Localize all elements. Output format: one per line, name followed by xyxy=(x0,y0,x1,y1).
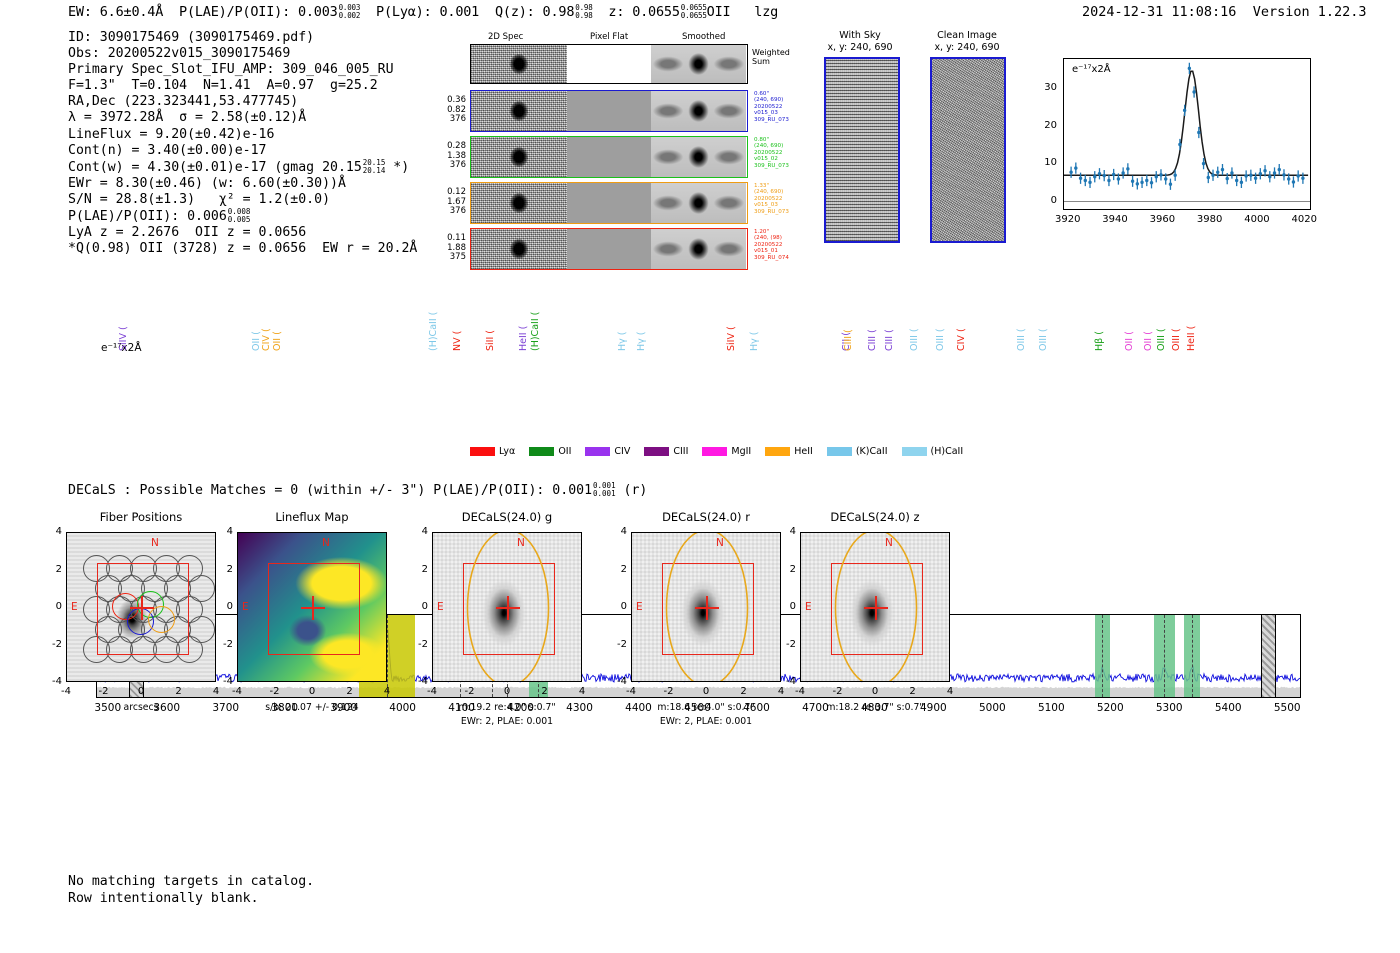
summary-header: EW: 6.6±0.4Å P(LAE)/P(OII): 0.0030.0030.… xyxy=(68,4,778,20)
linefit-ytick: 20 xyxy=(1033,120,1057,131)
cutout-clean-title: Clean Image xyxy=(902,30,1032,41)
legend-label: (H)CaII xyxy=(931,446,964,457)
panel-xtick: 2 xyxy=(533,686,557,697)
fiber-row[interactable] xyxy=(470,182,748,224)
linefit-xtick: 4020 xyxy=(1288,214,1320,225)
panel-xtick: 0 xyxy=(495,686,519,697)
imaging-panel-image[interactable]: NE xyxy=(800,532,950,682)
qz-label: Q(z): xyxy=(495,4,535,20)
fiber-stat-value: 376 xyxy=(432,207,466,217)
panel-ytick: 0 xyxy=(776,601,796,612)
info-ewr: EWr = 8.30(±0.46) (w: 6.60(±0.30))Å xyxy=(68,176,417,192)
panel-ytick: 2 xyxy=(607,564,627,575)
panel-ytick: 2 xyxy=(213,564,233,575)
fiber-pixelflat xyxy=(567,137,651,177)
version-label: Version 1.22.3 xyxy=(1253,4,1367,20)
emission-line-label: Hγ ( xyxy=(636,332,647,352)
z-species: OII xyxy=(707,4,731,20)
panel-ytick: 4 xyxy=(776,526,796,537)
panel-ytick: -4 xyxy=(607,676,627,687)
plae-value: 0.003 xyxy=(298,4,338,20)
legend-swatch xyxy=(902,447,927,456)
z-label: z: xyxy=(608,4,624,20)
info-seeing: F=1.3" T=0.104 N=1.41 A=0.97 g=25.2 xyxy=(68,78,417,94)
z-value: 0.0655 xyxy=(632,4,680,20)
panel-ytick: 2 xyxy=(408,564,428,575)
info-cont-n: Cont(n) = 3.40(±0.00)e-17 xyxy=(68,143,417,159)
emission-line-label: OIII ( xyxy=(935,328,946,351)
emission-line-label: SiIV ( xyxy=(726,326,737,351)
plae-range: 0.0030.002 xyxy=(339,4,361,20)
compass-east: E xyxy=(242,601,249,613)
emission-line-label: HeII ( xyxy=(1186,326,1197,351)
legend-item: OII xyxy=(529,446,571,457)
info-sn: S/N = 28.8(±1.3) χ² = 1.2(±0.0) xyxy=(68,192,417,208)
info-cont-w: Cont(w) = 4.30(±0.01)e-17 (gmag 20.1520.… xyxy=(68,159,417,176)
legend-label: CIV xyxy=(614,446,630,457)
weighted-sum-label: Weighted Sum xyxy=(752,48,790,66)
emission-line-label: Hγ ( xyxy=(749,332,760,352)
linefit-ytick: 30 xyxy=(1033,82,1057,93)
panel-ytick: -2 xyxy=(607,639,627,650)
emission-line-label: Hβ ( xyxy=(1094,331,1105,351)
legend-swatch xyxy=(827,447,852,456)
panel-ytick: -4 xyxy=(776,676,796,687)
plae-label: P(LAE)/P(OII): xyxy=(179,4,290,20)
linefit-ytick: 10 xyxy=(1033,157,1057,168)
qz-range: 0.980.98 xyxy=(575,4,592,20)
plya-value: 0.001 xyxy=(439,4,479,20)
z-range: 0.06550.0655 xyxy=(681,4,707,20)
imaging-panel-title: Lineflux Map xyxy=(217,510,407,524)
legend-item: (H)CaII xyxy=(902,446,964,457)
source-ellipse xyxy=(801,533,950,682)
compass-east: E xyxy=(805,601,812,613)
footer-line-1: No matching targets in catalog. xyxy=(68,874,314,891)
info-radec: RA,Dec (223.323441,53.477745) xyxy=(68,94,417,110)
weighted-sum-smoothed xyxy=(651,45,746,83)
imaging-panel-image[interactable]: NE xyxy=(237,532,387,682)
compass-east: E xyxy=(636,601,643,613)
imaging-panel-title: DECaLS(24.0) g xyxy=(412,510,602,524)
emission-line-label: OIII ( xyxy=(1156,328,1167,351)
compass-north: N xyxy=(322,537,330,549)
emission-line-label: NV ( xyxy=(452,331,463,351)
weighted-sum-pixelflat xyxy=(567,45,651,83)
emission-blob xyxy=(510,147,528,167)
panel-xtick: 2 xyxy=(167,686,191,697)
panel-xtick: -2 xyxy=(263,686,287,697)
fiber-2dspec xyxy=(471,91,567,131)
panel-ytick: -2 xyxy=(776,639,796,650)
fiber-pixelflat xyxy=(567,183,651,223)
target-crosshair xyxy=(312,596,313,620)
panel-ytick: 0 xyxy=(42,601,62,612)
panel-ytick: -2 xyxy=(408,639,428,650)
line-fit-plot: e⁻¹⁷x2Å 3920394039603980400040200102030 xyxy=(1028,50,1318,250)
aperture-box xyxy=(97,563,189,655)
full-spectrum-plot: e⁻¹⁷x2Å 35003600370038003900400041004200… xyxy=(0,270,1400,470)
footer-line-2: Row intentionally blank. xyxy=(68,891,314,908)
info-primary-spec: Primary Spec_Slot_IFU_AMP: 309_046_005_R… xyxy=(68,62,417,78)
fullspec-xtick: 5400 xyxy=(1208,702,1248,714)
panel-ytick: -2 xyxy=(213,639,233,650)
source-ellipse xyxy=(632,533,781,682)
linefit-ytick: 0 xyxy=(1033,195,1057,206)
fiber-2dspec xyxy=(471,229,567,269)
linefit-xtick: 3980 xyxy=(1194,214,1226,225)
imaging-panel-title: Fiber Positions xyxy=(46,510,236,524)
info-cont-w-post: *) xyxy=(393,160,409,175)
emission-line-label: CIII ( xyxy=(884,329,895,351)
panel-xtick: 0 xyxy=(300,686,324,697)
imaging-panel-title: DECaLS(24.0) r xyxy=(611,510,801,524)
emission-line-label: CIV ( xyxy=(261,328,272,351)
panel-xtick: 2 xyxy=(901,686,925,697)
fiber-row[interactable] xyxy=(470,136,748,178)
weighted-sum-row xyxy=(470,44,748,84)
imaging-panel-title: DECaLS(24.0) z xyxy=(780,510,970,524)
cutout-clean-image[interactable] xyxy=(930,57,1006,243)
fiber-2dspec xyxy=(471,183,567,223)
panel-caption: s/b: 21.07 +/- 0.124 xyxy=(207,702,417,714)
panel-ytick: 4 xyxy=(213,526,233,537)
classification-flag: lzg xyxy=(754,4,778,20)
panel-xtick: 0 xyxy=(863,686,887,697)
fullspec-xtick: 5300 xyxy=(1149,702,1189,714)
linefit-xtick: 3940 xyxy=(1099,214,1131,225)
emission-line-label: (H)CaII ( xyxy=(530,312,541,351)
imaging-panel-image[interactable]: NE xyxy=(66,532,216,682)
info-plae-range: 0.0080.005 xyxy=(228,208,251,224)
panel-xtick: 4 xyxy=(375,686,399,697)
legend-item: (K)CaII xyxy=(827,446,888,457)
col-title-smoothed: Smoothed xyxy=(682,32,725,42)
ew-label: EW: xyxy=(68,4,92,20)
panel-xtick: -4 xyxy=(420,686,444,697)
info-redshifts: LyA z = 2.2676 OII z = 0.0656 xyxy=(68,225,417,241)
info-id: ID: 3090175469 (3090175469.pdf) xyxy=(68,30,417,46)
detection-info-block: ID: 3090175469 (3090175469.pdf) Obs: 202… xyxy=(68,30,417,257)
legend-label: OII xyxy=(558,446,571,457)
fiber-smoothed xyxy=(651,91,746,131)
emission-line-label: OIII ( xyxy=(909,328,920,351)
gmag-range: 20.1520.14 xyxy=(363,159,386,175)
panel-caption-secondary: EWr: 2, PLAE: 0.001 xyxy=(601,716,811,728)
fiber-row-meta: 1.20"(240, (98)20200522v015_01309_RU_074 xyxy=(754,229,789,261)
legend-swatch xyxy=(585,447,610,456)
panel-xtick: 0 xyxy=(129,686,153,697)
info-lambda: λ = 3972.28Å σ = 2.58(±0.12)Å xyxy=(68,110,417,126)
fiber-smoothed xyxy=(651,183,746,223)
panel-xtick: -4 xyxy=(788,686,812,697)
linefit-xtick: 3960 xyxy=(1146,214,1178,225)
fiber-2dspec xyxy=(471,137,567,177)
panel-caption: m:19.2 re:4.0" s:0.7" xyxy=(402,702,612,714)
fiber-row-stats: 0.121.67376 xyxy=(432,188,466,217)
imaging-panel-image[interactable]: NE xyxy=(631,532,781,682)
compass-east: E xyxy=(437,601,444,613)
decals-header: DECaLS : Possible Matches = 0 (within +/… xyxy=(68,482,647,498)
legend-label: MgII xyxy=(731,446,751,457)
panel-ytick: -4 xyxy=(408,676,428,687)
panel-ytick: 4 xyxy=(42,526,62,537)
emission-line-label: OIII ( xyxy=(1016,328,1027,351)
emission-line-label: SiIV ( xyxy=(118,326,129,351)
fiber-row-meta: 0.80"(240, 690)20200522v015_02309_RU_073 xyxy=(754,137,789,169)
panel-xtick: 2 xyxy=(338,686,362,697)
panel-xtick: 4 xyxy=(938,686,962,697)
legend-label: (K)CaII xyxy=(856,446,888,457)
emission-line-label: CIV ( xyxy=(956,328,967,351)
panel-xtick: -2 xyxy=(458,686,482,697)
fiber-smoothed xyxy=(651,137,746,177)
panel-xtick: -4 xyxy=(54,686,78,697)
fiber-meta-line: 309_RU_073 xyxy=(754,163,789,169)
legend-item: CIII xyxy=(644,446,688,457)
legend-label: Lyα xyxy=(499,446,515,457)
fiber-row[interactable] xyxy=(470,90,748,132)
footer-note: No matching targets in catalog. Row inte… xyxy=(68,874,314,907)
spectrum-legend: LyαOIICIVCIIIMgIIHeII(K)CaII(H)CaII xyxy=(470,446,974,457)
line-marker xyxy=(1102,615,1103,697)
fullspec-xtick: 5200 xyxy=(1090,702,1130,714)
fiber-meta-line: 309_RU_073 xyxy=(754,117,789,123)
fiber-stat-value: 375 xyxy=(432,253,466,263)
imaging-panel-image[interactable]: NE xyxy=(432,532,582,682)
fiber-row-stats: 0.111.88375 xyxy=(432,234,466,263)
emission-blob xyxy=(510,239,528,259)
info-lineflux: LineFlux = 9.20(±0.42)e-16 xyxy=(68,127,417,143)
compass-north: N xyxy=(716,537,724,549)
target-crosshair xyxy=(141,596,142,620)
emission-line-label: CIII ( xyxy=(867,329,878,351)
panel-xtick: -4 xyxy=(225,686,249,697)
panel-ytick: -2 xyxy=(42,639,62,650)
info-q-solution: *Q(0.98) OII (3728) z = 0.0656 EW r = 20… xyxy=(68,241,417,257)
col-title-2dspec: 2D Spec xyxy=(488,32,523,42)
cutout-clean-coords: x, y: 240, 690 xyxy=(902,42,1032,53)
decals-plae-range: 0.0010.001 xyxy=(593,482,616,498)
panel-caption: m:18.2 re:3.7" s:0.7" xyxy=(770,702,980,714)
linefit-flux-annotation: e⁻¹⁷x2Å xyxy=(1072,64,1111,75)
masked-region xyxy=(1261,615,1276,697)
info-cont-w-text: Cont(w) = 4.30(±0.01)e-17 (gmag 20.15 xyxy=(68,160,362,175)
fiber-meta-line: 309_RU_073 xyxy=(754,209,789,215)
plya-label: P(Lyα): xyxy=(376,4,432,20)
weighted-sum-2dspec xyxy=(471,45,567,83)
compass-north: N xyxy=(517,537,525,549)
info-obs: Obs: 20200522v015_3090175469 xyxy=(68,46,417,62)
fiber-row[interactable] xyxy=(470,228,748,270)
decals-header-post: (r) xyxy=(624,483,648,498)
fiber-row-meta: 0.60"(240, 690)20200522v015_03309_RU_073 xyxy=(754,91,789,123)
emission-line-label: SiII ( xyxy=(485,330,496,351)
fiber-smoothed xyxy=(651,229,746,269)
linefit-xtick: 4000 xyxy=(1241,214,1273,225)
emission-line-label: OIII ( xyxy=(1038,328,1049,351)
ew-value: 6.6±0.4Å xyxy=(100,4,163,20)
fiber-row-stats: 0.281.38376 xyxy=(432,142,466,171)
linefit-xtick: 3920 xyxy=(1052,214,1084,225)
compass-north: N xyxy=(885,537,893,549)
panel-ytick: -4 xyxy=(42,676,62,687)
compass-north: N xyxy=(151,537,159,549)
fullspec-xtick: 5100 xyxy=(1031,702,1071,714)
legend-label: CIII xyxy=(673,446,688,457)
emission-blob xyxy=(510,101,528,121)
line-marker xyxy=(1192,615,1193,697)
source-ellipse xyxy=(433,533,582,682)
legend-swatch xyxy=(702,447,727,456)
cutout-with-sky-image[interactable] xyxy=(824,57,900,243)
emission-line-label: Hγ ( xyxy=(617,332,628,352)
fiber-stat-value: 376 xyxy=(432,115,466,125)
timestamp: 2024-12-31 11:08:16 xyxy=(1082,4,1236,20)
panel-xtick: 0 xyxy=(694,686,718,697)
emission-line-label: OII ( xyxy=(272,331,283,351)
legend-item: MgII xyxy=(702,446,751,457)
panel-ytick: 4 xyxy=(607,526,627,537)
legend-swatch xyxy=(529,447,554,456)
panel-ytick: 0 xyxy=(213,601,233,612)
legend-item: Lyα xyxy=(470,446,515,457)
fiber-pixelflat xyxy=(567,229,651,269)
emission-blob xyxy=(510,54,528,74)
panel-ytick: 2 xyxy=(42,564,62,575)
panel-xtick: -4 xyxy=(619,686,643,697)
emission-blob xyxy=(510,193,528,213)
fullspec-xtick: 5500 xyxy=(1267,702,1307,714)
fiber-stat-value: 376 xyxy=(432,161,466,171)
emission-line-label: OII ( xyxy=(1143,331,1154,351)
panel-xtick: -2 xyxy=(826,686,850,697)
fiber-meta-line: 309_RU_074 xyxy=(754,255,789,261)
panel-ytick: 4 xyxy=(408,526,428,537)
info-plae-text: P(LAE)/P(OII): 0.006 xyxy=(68,209,227,224)
emission-line-label: (H)CaII ( xyxy=(428,312,439,351)
two-d-spectrum-panel: 2D Spec Pixel Flat Smoothed Weighted Sum… xyxy=(432,32,782,257)
line-marker xyxy=(1164,615,1165,697)
fiber-row-meta: 1.33"(240, 690)20200522v015_03309_RU_073 xyxy=(754,183,789,215)
panel-ytick: 0 xyxy=(408,601,428,612)
panel-xtick: -2 xyxy=(92,686,116,697)
emission-line-label: OIII ( xyxy=(1171,328,1182,351)
decals-header-text: DECaLS : Possible Matches = 0 (within +/… xyxy=(68,483,592,498)
panel-caption-secondary: EWr: 2, PLAE: 0.001 xyxy=(402,716,612,728)
emission-line-label: OII ( xyxy=(1124,331,1135,351)
panel-xtick: 2 xyxy=(732,686,756,697)
fiber-pixelflat xyxy=(567,91,651,131)
legend-item: HeII xyxy=(765,446,813,457)
legend-item: CIV xyxy=(585,446,630,457)
line-marker xyxy=(387,615,388,697)
emission-line-label: HeII ( xyxy=(518,326,529,351)
qz-value: 0.98 xyxy=(543,4,575,20)
legend-swatch xyxy=(765,447,790,456)
info-plae: P(LAE)/P(OII): 0.0060.0080.005 xyxy=(68,208,417,225)
panel-ytick: 0 xyxy=(607,601,627,612)
legend-label: HeII xyxy=(794,446,813,457)
panel-ytick: 2 xyxy=(776,564,796,575)
legend-swatch xyxy=(470,447,495,456)
report-stamp: 2024-12-31 11:08:16 Version 1.22.3 xyxy=(1082,4,1367,20)
fiber-row-stats: 0.360.82376 xyxy=(432,96,466,125)
legend-swatch xyxy=(644,447,669,456)
panel-ytick: -4 xyxy=(213,676,233,687)
panel-xtick: -2 xyxy=(657,686,681,697)
compass-east: E xyxy=(71,601,78,613)
col-title-pixelflat: Pixel Flat xyxy=(590,32,628,42)
emission-line-label: CIII ( xyxy=(843,329,854,351)
panel-xtick: 4 xyxy=(570,686,594,697)
aperture-box xyxy=(268,563,360,655)
